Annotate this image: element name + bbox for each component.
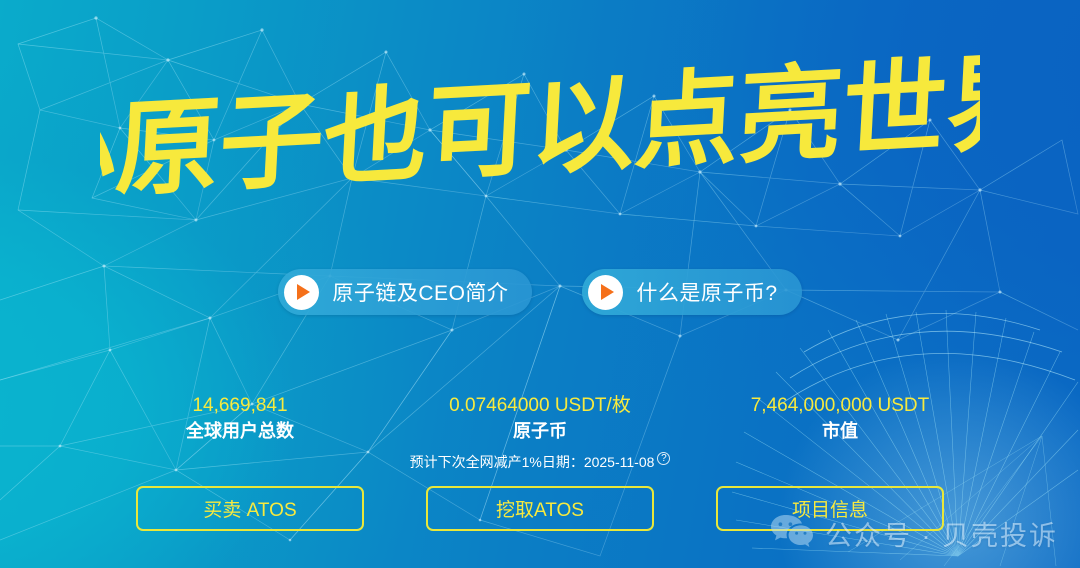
video-button-row: 原子链及CEO简介 什么是原子币? xyxy=(0,269,1080,315)
headline: 小原子也可以点亮世界 xyxy=(0,52,1080,202)
stat-market-cap-label: 市值 xyxy=(690,419,990,444)
headline-calligraphy: 小原子也可以点亮世界 xyxy=(100,52,980,202)
video-button-what-is-atos-label: 什么是原子币? xyxy=(636,277,777,307)
stat-total-users-value: 14,669,841 xyxy=(90,394,390,418)
video-button-what-is-atos[interactable]: 什么是原子币? xyxy=(582,269,801,315)
play-icon xyxy=(588,275,623,310)
help-icon[interactable]: ? xyxy=(657,452,670,465)
stat-total-users: 14,669,841 全球用户总数 xyxy=(90,394,390,444)
trade-atos-button[interactable]: 买卖 ATOS xyxy=(136,486,364,531)
action-button-row: 买卖 ATOS 挖取ATOS 项目信息 xyxy=(0,486,1080,531)
halving-note: 预计下次全网减产1%日期：2025-11-08? xyxy=(0,452,1080,472)
stat-price-label: 原子币 xyxy=(390,419,690,444)
mine-atos-button[interactable]: 挖取ATOS xyxy=(426,486,654,531)
stat-price: 0.07464000 USDT/枚 原子币 xyxy=(390,394,690,444)
halving-note-text: 预计下次全网减产1%日期：2025-11-08 xyxy=(410,454,655,470)
headline-label: 小原子也可以点亮世界 xyxy=(100,52,980,202)
stats-row: 14,669,841 全球用户总数 0.07464000 USDT/枚 原子币 … xyxy=(0,394,1080,444)
video-button-intro[interactable]: 原子链及CEO简介 xyxy=(278,269,532,315)
stat-market-cap-value: 7,464,000,000 USDT xyxy=(690,394,990,418)
stat-market-cap: 7,464,000,000 USDT 市值 xyxy=(690,394,990,444)
promo-banner: 小原子也可以点亮世界 原子链及CEO简介 什么是原子币? 14,669,841 … xyxy=(0,0,1080,568)
video-button-intro-label: 原子链及CEO简介 xyxy=(332,277,508,307)
stat-price-value: 0.07464000 USDT/枚 xyxy=(390,394,690,418)
stat-total-users-label: 全球用户总数 xyxy=(90,419,390,444)
play-icon xyxy=(284,275,319,310)
project-info-button[interactable]: 项目信息 xyxy=(716,486,944,531)
